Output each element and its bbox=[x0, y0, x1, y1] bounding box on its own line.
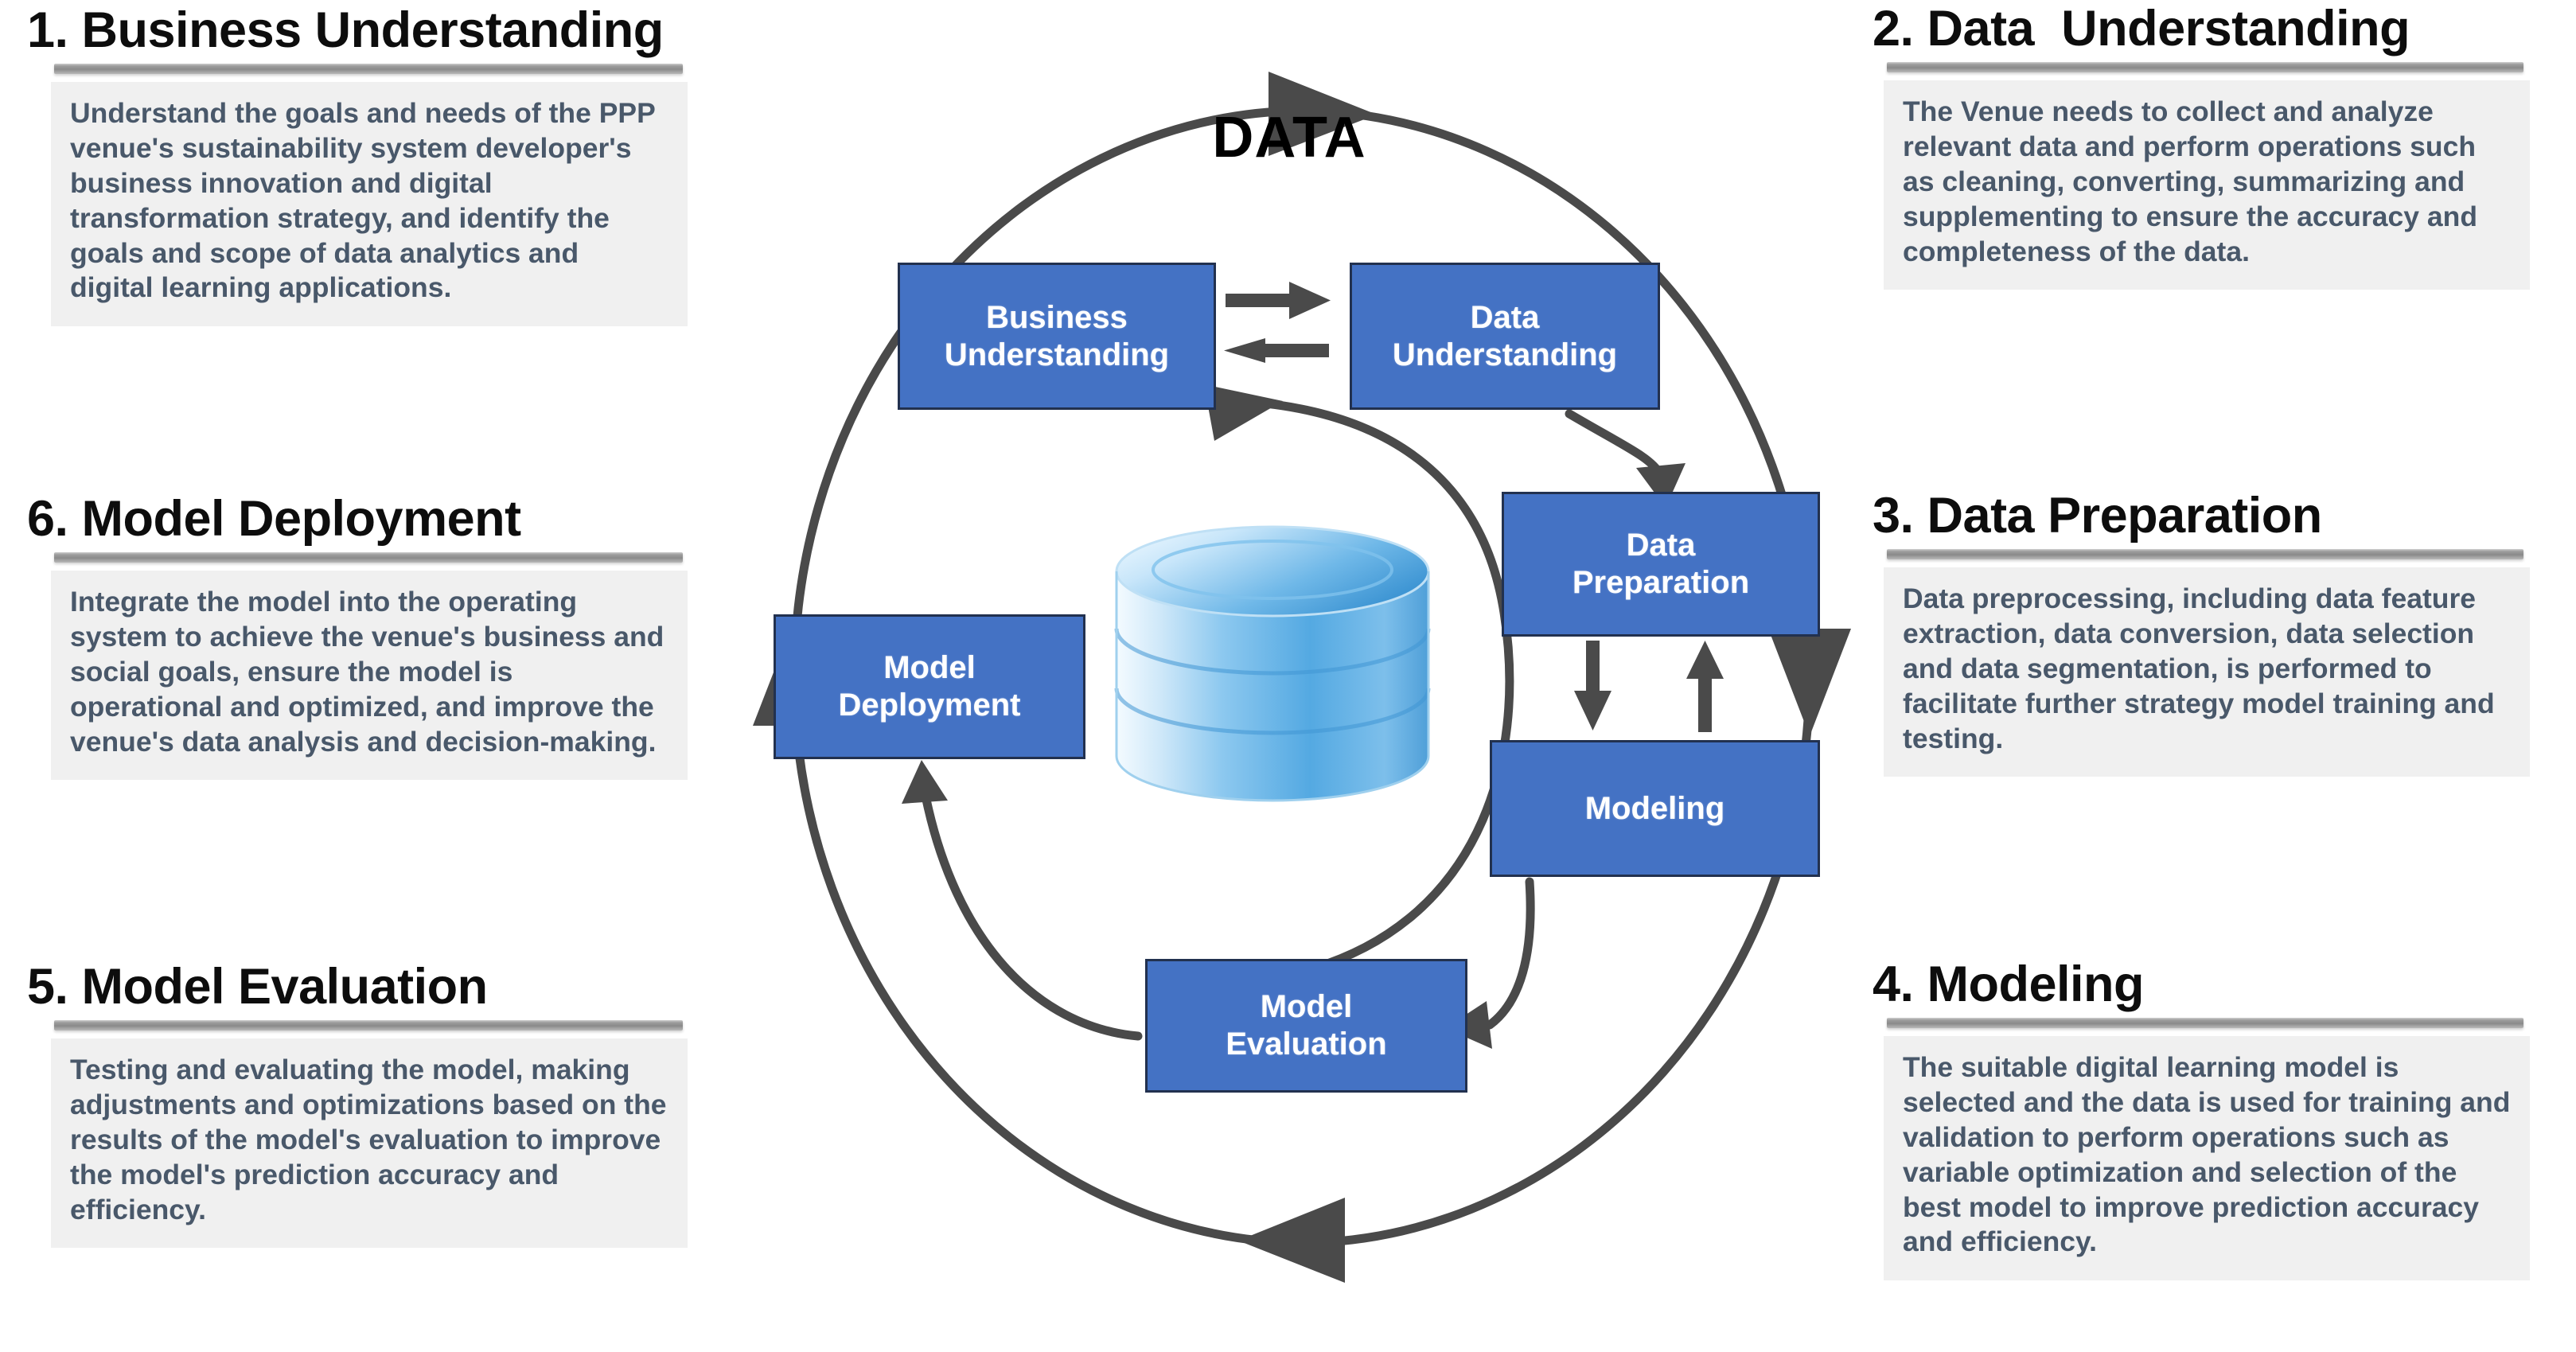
arrow-data-to-business bbox=[1224, 338, 1329, 363]
panel-body-text: The Venue needs to collect and analyze r… bbox=[1884, 80, 2530, 290]
arrow-modeling-to-dataprep bbox=[1686, 641, 1724, 732]
panel-body-text: The suitable digital learning model is s… bbox=[1884, 1036, 2530, 1280]
panel-divider bbox=[54, 1020, 683, 1031]
arrow-dataund-to-dataprep bbox=[1569, 414, 1660, 474]
panel-divider bbox=[1887, 549, 2523, 559]
node-modeling[interactable]: Modeling bbox=[1490, 740, 1820, 877]
arrow-evaluation-to-deployment bbox=[926, 796, 1138, 1036]
panel-body-text: Understand the goals and needs of the PP… bbox=[51, 82, 688, 326]
crisp-dm-cycle-diagram: DATA Business Understanding Data Underst… bbox=[676, 0, 1902, 1352]
arrow-dataprep-to-modeling bbox=[1574, 641, 1611, 731]
panel-body-text: Integrate the model into the operating s… bbox=[51, 571, 688, 780]
panel-modeling: 4. Modeling The suitable digital learnin… bbox=[1866, 959, 2566, 1280]
panel-title: 4. Modeling bbox=[1866, 959, 2566, 1010]
arrowhead-deployment bbox=[902, 760, 948, 804]
panel-divider bbox=[1887, 1018, 2523, 1028]
node-data-preparation[interactable]: Data Preparation bbox=[1502, 492, 1820, 637]
arrow-business-to-data bbox=[1226, 282, 1331, 319]
panel-body-text: Testing and evaluating the model, making… bbox=[51, 1038, 688, 1248]
panel-body-text: Data preprocessing, including data featu… bbox=[1884, 567, 2530, 777]
panel-title: 6. Model Deployment bbox=[24, 493, 724, 544]
node-model-deployment[interactable]: Model Deployment bbox=[774, 614, 1085, 759]
panel-title: 1. Business Understanding bbox=[24, 5, 724, 56]
panel-data-understanding: 2. Data Understanding The Venue needs to… bbox=[1866, 3, 2566, 290]
panel-business-understanding: 1. Business Understanding Understand the… bbox=[24, 5, 724, 326]
arrow-modeling-to-evaluation bbox=[1490, 882, 1530, 1025]
panel-data-preparation: 3. Data Preparation Data preprocessing, … bbox=[1866, 490, 2566, 777]
panel-divider bbox=[54, 552, 683, 563]
node-business-understanding[interactable]: Business Understanding bbox=[898, 263, 1216, 410]
outer-arrowhead-right bbox=[1768, 629, 1851, 736]
panel-model-deployment: 6. Model Deployment Integrate the model … bbox=[24, 493, 724, 780]
panel-title: 3. Data Preparation bbox=[1866, 490, 2566, 541]
panel-model-evaluation: 5. Model Evaluation Testing and evaluati… bbox=[24, 961, 724, 1248]
database-label: DATA bbox=[676, 105, 1902, 170]
panel-divider bbox=[54, 64, 683, 74]
panel-divider bbox=[1887, 62, 2523, 72]
panel-title: 2. Data Understanding bbox=[1866, 3, 2566, 54]
outer-arrowhead-bottom bbox=[1238, 1198, 1345, 1283]
database-cylinder-icon bbox=[1117, 527, 1428, 801]
panel-title: 5. Model Evaluation bbox=[24, 961, 724, 1012]
node-model-evaluation[interactable]: Model Evaluation bbox=[1145, 959, 1467, 1093]
node-data-understanding[interactable]: Data Understanding bbox=[1350, 263, 1660, 410]
